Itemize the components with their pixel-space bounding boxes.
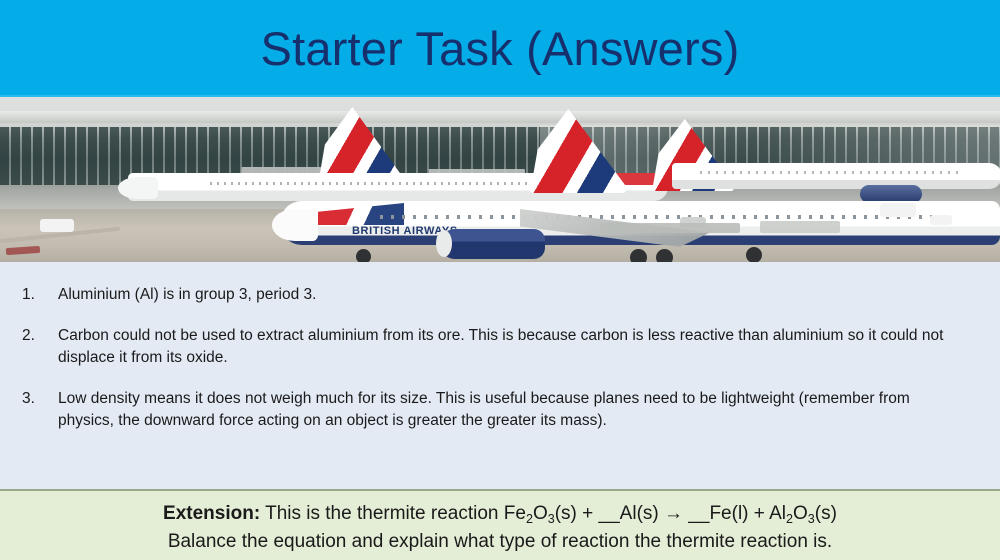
- ground-vehicle: [40, 219, 74, 232]
- equation-product-1: Fe(l): [709, 503, 748, 524]
- page-title: Starter Task (Answers): [261, 25, 740, 72]
- title-banner: Starter Task (Answers): [0, 0, 1000, 97]
- landing-gear: [630, 249, 647, 262]
- list-item-text: Low density means it does not weigh much…: [58, 388, 1000, 432]
- list-item: 2. Carbon could not be used to extract a…: [0, 325, 1000, 369]
- equation-product-2: Al: [769, 503, 786, 524]
- equation-state-2: (s): [815, 503, 837, 524]
- aircraft-tail: [530, 109, 626, 193]
- aircraft-windows-far: [700, 171, 960, 174]
- aircraft-windows-rear: [210, 182, 550, 185]
- aircraft-engine-front: [440, 229, 545, 259]
- list-item: 3. Low density means it does not weigh m…: [0, 388, 1000, 432]
- answers-list: 1. Aluminium (Al) is in group 3, period …: [0, 262, 1000, 432]
- landing-gear: [356, 249, 371, 262]
- list-item: 1. Aluminium (Al) is in group 3, period …: [0, 284, 1000, 306]
- list-item-number: 3.: [0, 388, 58, 410]
- airport-photo: BRITISH AIRWAYS: [0, 97, 1000, 262]
- equation-plus: +: [754, 503, 765, 524]
- aircraft-windows-front: [380, 215, 940, 219]
- equation-blank-2: __: [688, 503, 709, 524]
- extension-box: Extension: This is the thermite reaction…: [0, 489, 1000, 560]
- extension-label: Extension:: [163, 503, 260, 524]
- list-item-number: 1.: [0, 284, 58, 306]
- equation-reactant-2: Al(s): [620, 503, 659, 524]
- ground-vehicle: [880, 203, 916, 217]
- extension-intro: This is the thermite reaction: [265, 503, 498, 524]
- equation-reactant-1-mid: O: [533, 503, 548, 524]
- answers-panel: 1. Aluminium (Al) is in group 3, period …: [0, 262, 1000, 489]
- landing-gear: [746, 247, 762, 262]
- aircraft-fuselage-far: [672, 163, 1000, 189]
- baggage-cart: [600, 223, 740, 233]
- list-item-text: Carbon could not be used to extract alum…: [58, 325, 1000, 369]
- terminal-roof: [0, 111, 1000, 123]
- aircraft-engine-intake: [436, 230, 452, 257]
- equation-plus: +: [582, 503, 593, 524]
- ground-vehicle: [930, 215, 952, 225]
- equation-product-2-mid: O: [793, 503, 808, 524]
- equation-arrow-icon: →: [664, 503, 683, 524]
- aircraft-nose-rear: [118, 177, 158, 199]
- equation-blank-1: __: [599, 503, 620, 524]
- extension-line-2: Balance the equation and explain what ty…: [0, 528, 1000, 556]
- chemical-equation: Fe2O3(s) + __Al(s) → __Fe(l) + Al2O3(s): [504, 503, 837, 524]
- equation-state-1: (s): [555, 503, 577, 524]
- aircraft-nose-front: [272, 209, 318, 241]
- extension-line-1: Extension: This is the thermite reaction…: [0, 500, 1000, 528]
- equation-subscript: 2: [786, 512, 793, 526]
- landing-gear: [656, 249, 673, 262]
- equation-reactant-1: Fe: [504, 503, 526, 524]
- list-item-number: 2.: [0, 325, 58, 347]
- equation-subscript: 3: [548, 512, 555, 526]
- baggage-cart: [760, 221, 840, 233]
- list-item-text: Aluminium (Al) is in group 3, period 3.: [58, 284, 1000, 306]
- equation-subscript: 2: [526, 512, 533, 526]
- equation-subscript: 3: [808, 512, 815, 526]
